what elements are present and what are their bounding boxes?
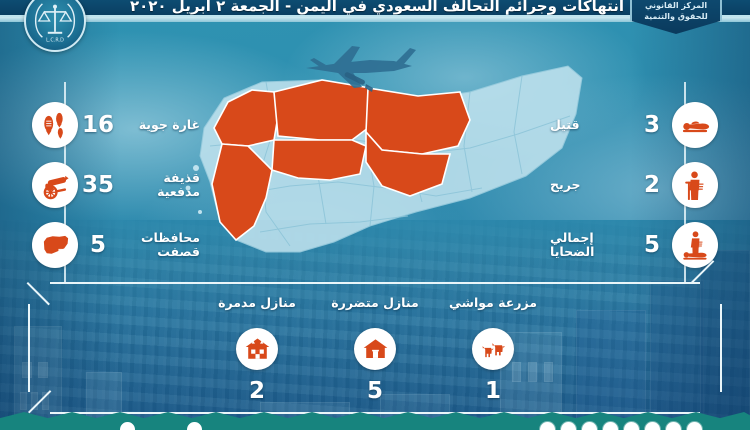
social-icons-row[interactable] [540,422,702,430]
panel-item-value: 2 [249,378,265,404]
stat-value: 2 [632,174,672,197]
damaged-house-icon [354,328,396,370]
panel-item-label: منازل متضررة [331,296,418,326]
social-icon-website[interactable] [687,422,702,430]
dead-body-icon [672,102,718,148]
stat-value: 35 [78,174,118,197]
footer-mark-one [120,422,135,430]
stat-injured: 2 جريح [546,156,736,214]
logo-acronym-text: L.C.R.D [46,38,64,44]
social-icon-telegram[interactable] [624,422,639,430]
panel-item-livestock-farm: مزرعة مواشي [449,296,537,404]
stat-label: قذيفة مدفعية [118,171,204,199]
property-damage-panel: مزرعة مواشي [28,282,722,414]
artillery-cannon-icon [32,162,78,208]
footer-left-marks [120,422,202,430]
org-name-line1: المركز القانوني [632,0,720,11]
panel-items-row: مزرعة مواشي [28,282,722,414]
stat-label: محافظات قصفت [118,231,204,259]
panel-item-label: منازل مدمرة [218,296,296,326]
stat-label: قتيل [546,118,632,132]
stat-value: 5 [632,234,672,257]
social-icon-youtube[interactable] [582,422,597,430]
stat-label: جريح [546,178,632,192]
stat-provinces-bombed: 5 محافظات قصفت [14,216,204,274]
stat-value: 16 [78,114,118,137]
stat-value: 5 [78,234,118,257]
footer-mark-two [187,422,202,430]
social-icon-facebook[interactable] [540,422,555,430]
social-icon-email[interactable] [666,422,681,430]
bombs-icon [32,102,78,148]
panel-item-value: 1 [485,378,501,404]
org-name-line2: للحقوق والتنمية [632,11,720,22]
stat-airstrikes: 16 غارة جوية [14,96,204,154]
left-stats-column: 16 غارة جوية [14,96,204,276]
stat-label: إجمالي الضحايا [546,231,632,259]
destroyed-house-icon [236,328,278,370]
stat-value: 3 [632,114,672,137]
panel-item-value: 5 [367,378,383,404]
panel-item-destroyed-houses: منازل مدمرة 2 [213,296,301,404]
fighter-jet-dropping-bomb-icon [300,42,420,102]
scales-of-justice-logo-icon[interactable]: L.C.R.D [24,0,86,52]
livestock-farm-icon [472,328,514,370]
panel-item-label: مزرعة مواشي [449,296,537,326]
stat-artillery-shells: 35 قذيفة مدفعية [14,156,204,214]
social-icon-instagram[interactable] [603,422,618,430]
social-icon-whatsapp[interactable] [645,422,660,430]
infographic-canvas: انتهاكات وجرائم التحالف السعودي في اليمن… [0,0,750,430]
injured-person-icon [672,162,718,208]
panel-item-damaged-houses: منازل متضررة 5 [331,296,419,404]
stat-label: غارة جوية [118,118,204,132]
stat-killed: 3 قتيل [546,96,736,154]
right-stats-column: 3 قتيل 2 جريح [546,96,736,276]
yemen-map-icon [32,222,78,268]
page-title: انتهاكات وجرائم التحالف السعودي في اليمن… [96,0,658,15]
social-icon-twitter[interactable] [561,422,576,430]
